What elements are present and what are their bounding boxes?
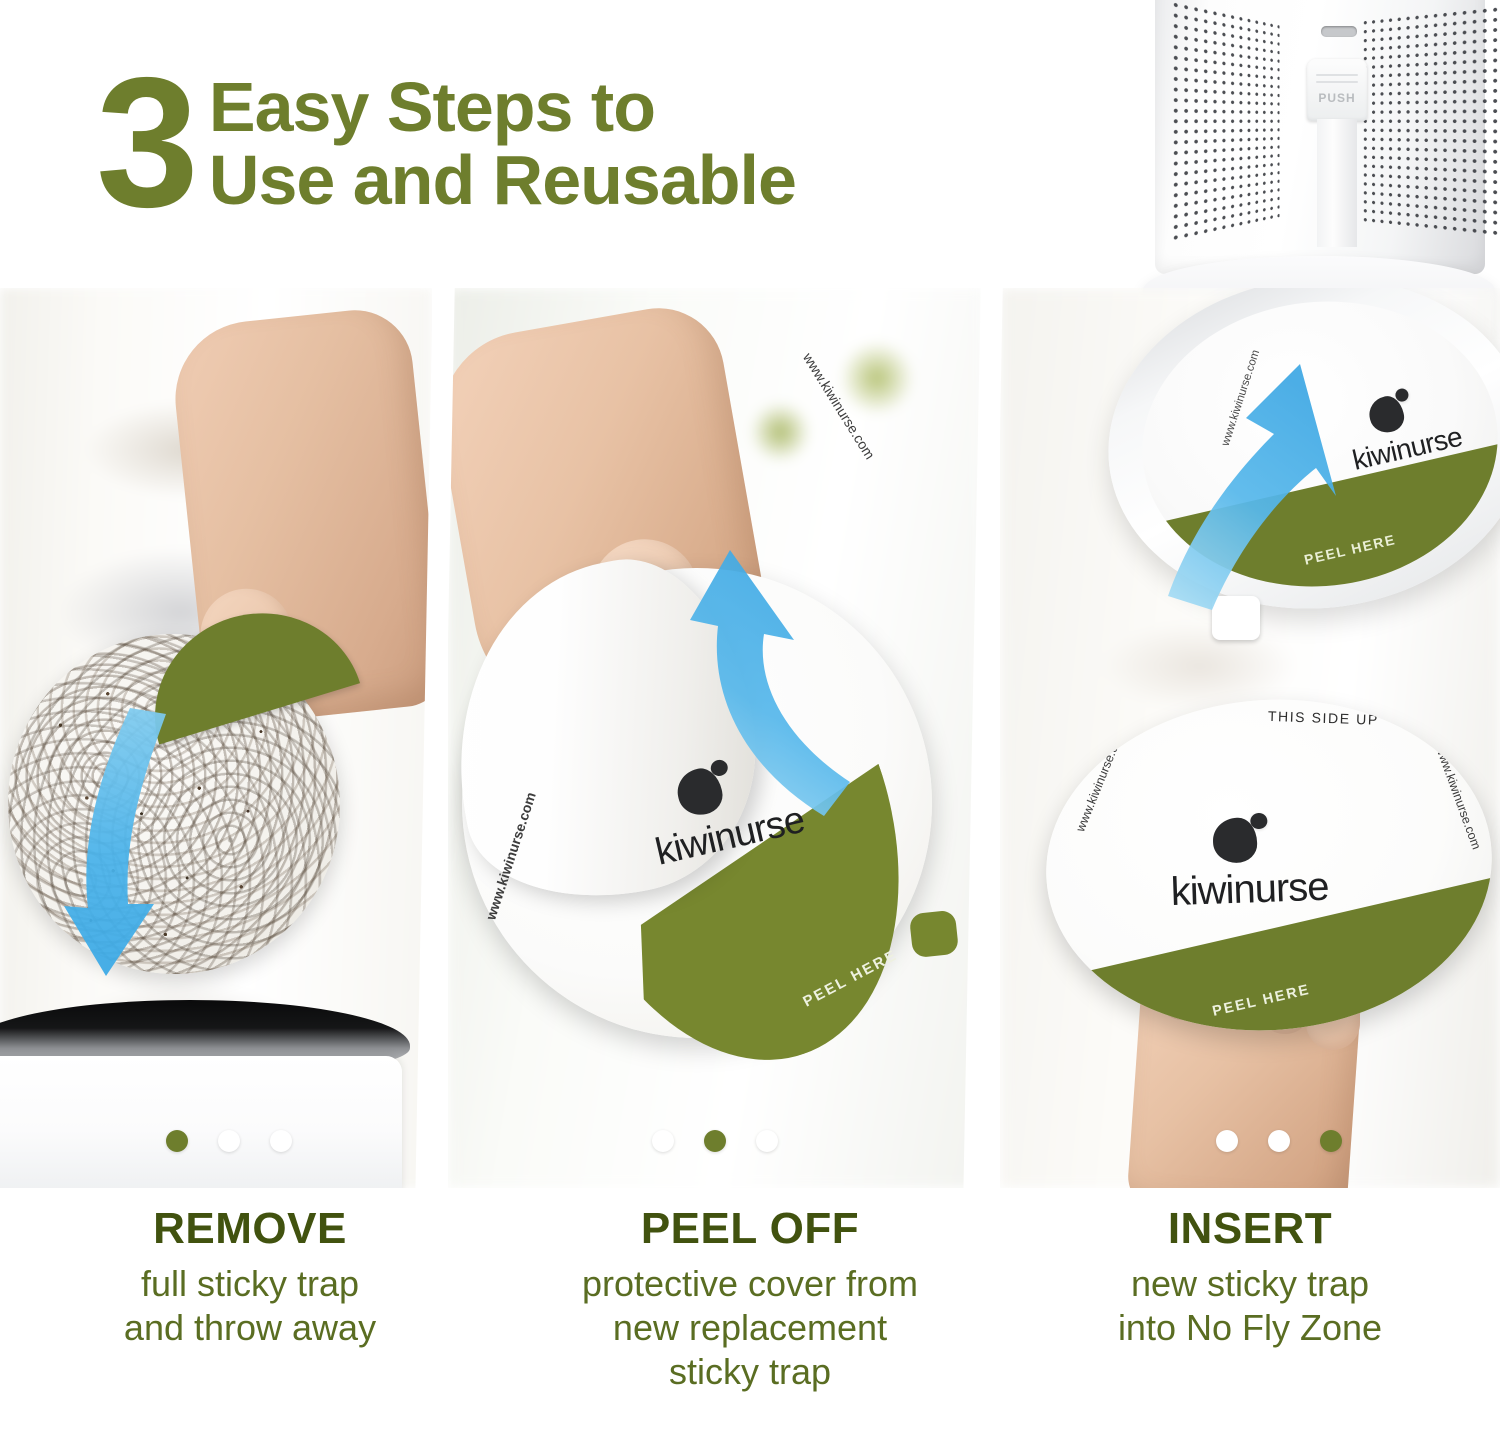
step-dot-2[interactable]: [1268, 1130, 1290, 1152]
caption-line-3: sticky trap: [512, 1350, 988, 1394]
caption-line-1: protective cover from: [512, 1262, 988, 1306]
caption-line-1: full sticky trap: [12, 1262, 488, 1306]
arrow-up-icon: [668, 534, 898, 834]
appliance-mesh-right-icon: [1361, 4, 1497, 237]
trash-can-body: [0, 1056, 402, 1188]
step-captions: REMOVE full sticky trap and throw away P…: [0, 1204, 1500, 1439]
step-dot-2[interactable]: [704, 1130, 726, 1152]
caption-line-2: into No Fly Zone: [1012, 1306, 1488, 1350]
headline-number: 3: [96, 66, 193, 221]
headline-line-1: Easy Steps to: [209, 71, 796, 144]
headline-lines: Easy Steps to Use and Reusable: [209, 71, 796, 217]
step-panel-3: PEEL HERE www.kiwinurse.com kiwinurse: [1000, 288, 1500, 1188]
step-panel-2: PEEL HERE www.kiwinurse.com www.kiwinurs…: [448, 288, 984, 1188]
caption-step-3: INSERT new sticky trap into No Fly Zone: [1000, 1204, 1500, 1439]
step-dots-1: [166, 1130, 292, 1152]
steps-photo-strip: www.kiwinurse.com www.kiwinurse.com kiwi…: [0, 288, 1500, 1188]
appliance-mesh-left-icon: [1170, 0, 1279, 243]
caption-line-2: and throw away: [12, 1306, 488, 1350]
push-grip-line: [1316, 74, 1358, 76]
step-dot-1[interactable]: [166, 1130, 188, 1152]
trap-this-side-up-label: THIS SIDE UP: [1268, 708, 1379, 728]
step-panel-1: www.kiwinurse.com www.kiwinurse.com kiwi…: [0, 288, 432, 1188]
step-dot-1[interactable]: [652, 1130, 674, 1152]
caption-title: PEEL OFF: [512, 1204, 988, 1254]
headline-block: 3 Easy Steps to Use and Reusable: [0, 44, 1030, 244]
arrow-down-icon: [62, 708, 182, 1068]
push-label: PUSH: [1307, 91, 1367, 105]
trap-logo-word: kiwinurse: [1170, 865, 1329, 915]
appliance-latch-stem: [1317, 119, 1357, 247]
appliance-body: PUSH: [1155, 0, 1485, 274]
step-dot-1[interactable]: [1216, 1130, 1238, 1152]
caption-line-1: new sticky trap: [1012, 1262, 1488, 1306]
caption-step-1: REMOVE full sticky trap and throw away: [0, 1204, 500, 1439]
caption-title: REMOVE: [12, 1204, 488, 1254]
infographic-page: 3 Easy Steps to Use and Reusable PUSH: [0, 0, 1500, 1439]
caption-step-2: PEEL OFF protective cover from new repla…: [500, 1204, 1000, 1439]
kiwi-dot-shape: [1250, 813, 1268, 830]
appliance-vent-slot-icon: [1321, 26, 1357, 37]
push-grip-line: [1316, 81, 1358, 83]
peel-tab-icon: [909, 910, 959, 959]
headline-line-2: Use and Reusable: [209, 144, 796, 217]
appliance-push-button[interactable]: PUSH: [1307, 59, 1367, 121]
step-dot-3[interactable]: [270, 1130, 292, 1152]
step-dots-3: [1216, 1130, 1342, 1152]
trap-logo: kiwinurse: [1168, 811, 1329, 915]
step-dot-3[interactable]: [1320, 1130, 1342, 1152]
step-dot-2[interactable]: [218, 1130, 240, 1152]
step-dot-3[interactable]: [756, 1130, 778, 1152]
caption-line-2: new replacement: [512, 1306, 988, 1350]
arrow-up-icon: [1150, 358, 1380, 618]
kiwinurse-logo-icon: [1212, 813, 1272, 869]
caption-title: INSERT: [1012, 1204, 1488, 1254]
step-dots-2: [652, 1130, 778, 1152]
